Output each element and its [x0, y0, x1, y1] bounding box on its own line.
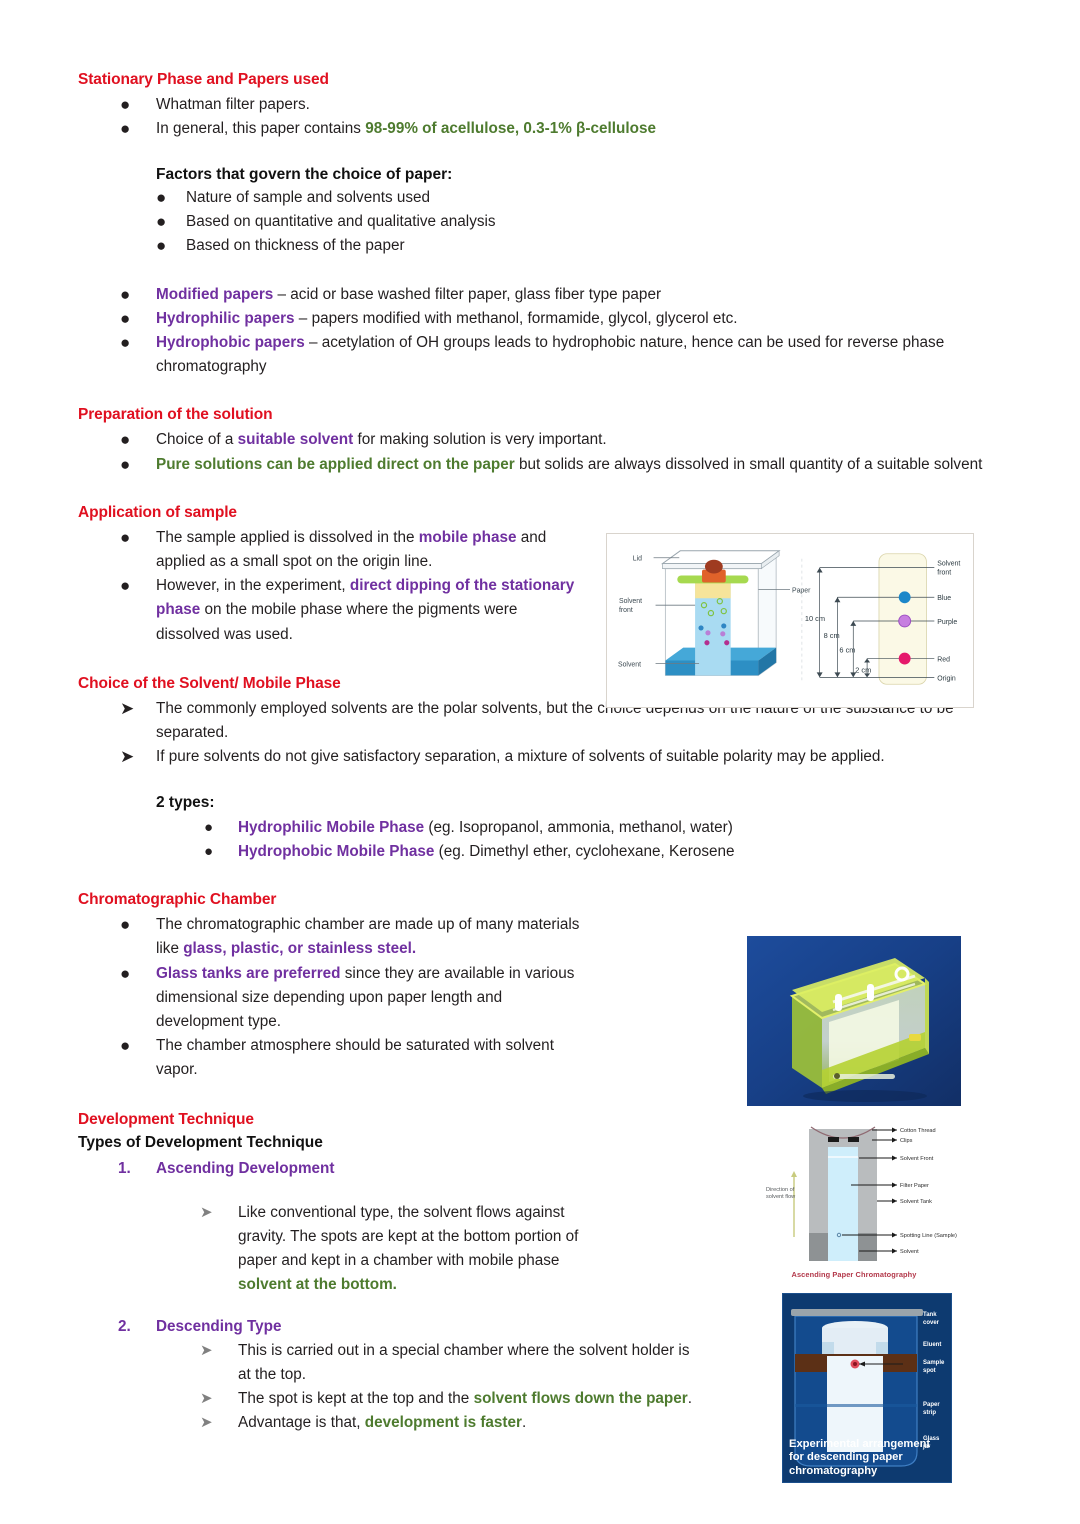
heading-application-of-sample: Application of sample [78, 503, 1008, 524]
bullet-text: Nature of sample and solvents used [186, 186, 1008, 210]
emphasis-solvent-at-bottom: solvent at the bottom. [238, 1276, 397, 1293]
ascending-body-pre: Like conventional type, the solvent flow… [238, 1204, 578, 1269]
label-red: Red [937, 657, 950, 664]
ascending-svg: Direction of solvent flow [747, 1117, 961, 1283]
figure-tank-and-rf-diagram: Lid Paper Solvent front Solvent [606, 533, 974, 708]
list-item: ● The chromatographic chamber are made u… [78, 913, 583, 961]
bullet-marker: ● [120, 1034, 172, 1057]
label-solvent-front-line2: front [619, 607, 633, 614]
bullet-text: Choice of a suitable solvent for making … [156, 428, 1008, 452]
list-item: ● Hydrophobic Mobile Phase (eg. Dimethyl… [156, 840, 1008, 864]
bullet-marker: ● [120, 428, 172, 451]
label-solvent-bottom: Solvent [900, 1249, 919, 1255]
bullet-text: However, in the experiment, direct dippi… [156, 574, 583, 647]
subheading-descending-type: Descending Type [156, 1318, 282, 1335]
bullet-marker: ● [204, 816, 213, 839]
bullet-marker-green: ● [120, 117, 172, 140]
bullet-marker: ● [120, 526, 172, 549]
list-item: ● Nature of sample and solvents used [156, 186, 1008, 210]
factors-heading: Factors that govern the choice of paper: [156, 164, 1008, 186]
term-hydrophilic-papers: Hydrophilic papers [156, 310, 295, 327]
bullet-marker: ● [120, 283, 172, 306]
bullet-text: Hydrophobic Mobile Phase (eg. Dimethyl e… [238, 840, 1008, 864]
app-item2-pre: However, in the experiment, [156, 577, 350, 594]
label-tank-cover-1: Tank [923, 1312, 937, 1318]
label-solvent: Solvent [618, 661, 641, 668]
label-direction-line1: Direction of [766, 1187, 795, 1193]
list-item: ● Based on quantitative and qualitative … [156, 210, 1008, 234]
label-6cm: 6 cm [839, 646, 855, 655]
label-10cm: 10 cm [805, 614, 825, 623]
bullet-marker: ● [156, 210, 166, 233]
prep-item1-post: for making solution is very important. [353, 431, 606, 448]
label-spotting-line: Spotting Line (Sample) [900, 1233, 957, 1239]
prep-item2-post: but solids are always dissolved in small… [515, 456, 983, 473]
term-hydrophobic-mobile-phase: Hydrophobic Mobile Phase [238, 843, 434, 860]
arrow-bullet-marker: ➤ [120, 745, 172, 768]
emphasis-pure-solutions: Pure solutions can be applied direct on … [156, 456, 515, 473]
figure-descending-chromatography: Tank cover Eluent Sample spot Paper stri… [782, 1293, 952, 1483]
bullet-marker: ● [156, 186, 166, 209]
bullet-text: This is carried out in a special chamber… [238, 1339, 698, 1387]
list-item: ● Whatman filter papers. [78, 93, 1008, 117]
glass-tank-svg [747, 936, 961, 1106]
label-tank-cover-2: cover [923, 1320, 940, 1326]
heading-preparation-of-solution: Preparation of the solution [78, 405, 1008, 426]
factors-block: Factors that govern the choice of paper:… [78, 164, 1008, 258]
two-types-block: 2 types: ● Hydrophilic Mobile Phase (eg.… [78, 792, 1008, 864]
emphasis-development-faster: development is faster [365, 1414, 522, 1431]
heading-stationary-phase: Stationary Phase and Papers used [78, 70, 1008, 91]
bullet-marker: ● [120, 331, 172, 354]
bullet-marker: ● [120, 913, 172, 936]
two-types-heading: 2 types: [156, 792, 1008, 814]
list-item: ➤ This is carried out in a special chamb… [78, 1339, 698, 1387]
label-purple: Purple [937, 619, 957, 626]
bullet-text: If pure solvents do not give satisfactor… [156, 745, 1008, 769]
term-hydrophilic-papers-rest: – papers modified with methanol, formami… [295, 310, 738, 327]
list-item: ● Glass tanks are preferred since they a… [78, 962, 583, 1035]
arrow-bullet-marker: ➤ [120, 697, 172, 720]
desc-point3-post: . [522, 1414, 526, 1431]
bullet-text: Advantage is that, development is faster… [238, 1411, 698, 1435]
list-item: ● In general, this paper contains 98-99%… [78, 117, 1008, 141]
bullet-text: The sample applied is dissolved in the m… [156, 526, 583, 574]
term-hydrophobic-mobile-phase-rest: (eg. Dimethyl ether, cyclohexane, Kerose… [434, 843, 734, 860]
application-bullets: ● The sample applied is dissolved in the… [78, 526, 583, 647]
term-hydrophilic-mobile-phase: Hydrophilic Mobile Phase [238, 819, 424, 836]
ascending-development-points: ➤ Like conventional type, the solvent fl… [78, 1201, 583, 1298]
descending-type-points: ➤ This is carried out in a special chamb… [78, 1339, 698, 1436]
emphasis-solvent-flows-down: solvent flows down the paper [474, 1390, 688, 1407]
ordered-marker-2: 2. [118, 1315, 131, 1339]
bullet-text: In general, this paper contains 98-99% o… [156, 117, 1008, 141]
bullet-marker: ● [204, 840, 213, 863]
bullet-text: Hydrophobic papers – acetylation of OH g… [156, 331, 1008, 379]
emphasis-mobile-phase: mobile phase [419, 529, 517, 546]
bullet-marker: ● [120, 574, 172, 597]
list-item: ● Based on thickness of the paper [156, 234, 1008, 258]
label-lid: Lid [633, 556, 642, 563]
caption-ascending-paper-chromatography: Ascending Paper Chromatography [747, 1270, 961, 1279]
arrow-bullet-marker: ➤ [200, 1201, 252, 1224]
list-item: ➤ Advantage is that, development is fast… [78, 1411, 698, 1435]
label-paper-strip-2: strip [923, 1410, 936, 1416]
term-hydrophobic-papers: Hydrophobic papers [156, 334, 305, 351]
desc-point2-pre: The spot is kept at the top and the [238, 1390, 474, 1407]
label-solvent-tank: Solvent Tank [900, 1199, 932, 1205]
bullet-text: The chromatographic chamber are made up … [156, 913, 583, 961]
highlight-cellulose-composition: 98-99% of acellulose, 0.3-1% β-cellulose [365, 120, 656, 137]
list-item: ● Hydrophilic Mobile Phase (eg. Isopropa… [156, 816, 1008, 840]
label-origin: Origin [937, 675, 956, 682]
label-paper-strip-1: Paper [923, 1402, 940, 1408]
heading-chromatographic-chamber: Chromatographic Chamber [78, 890, 1008, 911]
label-solvent-front-right2: front [937, 570, 951, 577]
list-item: ● Modified papers – acid or base washed … [78, 283, 1008, 307]
emphasis-chamber-materials: glass, plastic, or stainless steel. [183, 940, 416, 957]
preparation-bullets: ● Choice of a suitable solvent for makin… [78, 428, 1008, 476]
label-eluent: Eluent [923, 1342, 941, 1348]
caption-descending-paper-chromatography: Experimental arrangement for descending … [789, 1438, 947, 1479]
label-solvent-front-line1: Solvent [619, 598, 642, 605]
label-direction-line2: solvent flow [766, 1194, 796, 1200]
spot-red [899, 653, 911, 665]
label-cotton-thread: Cotton Thread [900, 1128, 936, 1134]
subheading-ascending-development: Ascending Development [156, 1160, 335, 1177]
bullet-marker: ● [120, 307, 172, 330]
term-modified-papers-rest: – acid or base washed filter paper, glas… [273, 286, 661, 303]
label-blue: Blue [937, 595, 951, 602]
desc-point3-pre: Advantage is that, [238, 1414, 365, 1431]
label-sample-spot-1: Sample [923, 1360, 945, 1366]
bullet-text: Based on quantitative and qualitative an… [186, 210, 1008, 234]
factors-list: ● Nature of sample and solvents used ● B… [156, 186, 1008, 259]
bullet-text: Modified papers – acid or base washed fi… [156, 283, 1008, 307]
app-item2-post: on the mobile phase where the pigments w… [156, 601, 517, 642]
desc-point2-post: . [688, 1390, 692, 1407]
term-hydrophilic-mobile-phase-rest: (eg. Isopropanol, ammonia, methanol, wat… [424, 819, 733, 836]
list-item: ● However, in the experiment, direct dip… [78, 574, 583, 647]
paper-types-list: ● Modified papers – acid or base washed … [78, 283, 1008, 380]
list-item: ● Pure solutions can be applied direct o… [78, 453, 1008, 477]
spot-purple [899, 615, 911, 627]
label-2cm: 2 cm [855, 665, 871, 674]
tank-rf-svg: Lid Paper Solvent front Solvent [607, 534, 973, 707]
figure-ascending-chromatography: Direction of solvent flow [747, 1117, 961, 1283]
bullet-marker: ● [120, 453, 172, 476]
list-item: ● Choice of a suitable solvent for makin… [78, 428, 1008, 452]
list-item: ● Hydrophilic papers – papers modified w… [78, 307, 1008, 331]
arrow-bullet-marker: ➤ [200, 1411, 252, 1434]
list-item: ➤ If pure solvents do not give satisfact… [78, 745, 1008, 769]
arrow-bullet-marker: ➤ [200, 1387, 252, 1410]
list-item: ➤ The spot is kept at the top and the so… [78, 1387, 698, 1411]
label-solvent-front: Solvent Front [900, 1156, 934, 1162]
stationary-phase-bullets: ● Whatman filter papers. ● In general, t… [78, 93, 1008, 141]
list-item: ➤ Like conventional type, the solvent fl… [78, 1201, 583, 1298]
bullet-text: The chamber atmosphere should be saturat… [156, 1034, 583, 1082]
bullet-text: Whatman filter papers. [156, 93, 1008, 117]
bullet-text: Pure solutions can be applied direct on … [156, 453, 1008, 477]
bullet-text: Hydrophilic papers – papers modified wit… [156, 307, 1008, 331]
bullet-text: The spot is kept at the top and the solv… [238, 1387, 698, 1411]
list-item: ● Hydrophobic papers – acetylation of OH… [78, 331, 1008, 379]
chamber-bullets: ● The chromatographic chamber are made u… [78, 913, 583, 1082]
term-modified-papers: Modified papers [156, 286, 273, 303]
emphasis-glass-tanks: Glass tanks are preferred [156, 965, 341, 982]
app-item1-pre: The sample applied is dissolved in the [156, 529, 419, 546]
bullet-marker: ● [120, 93, 172, 116]
label-sample-spot-2: spot [923, 1368, 936, 1374]
bullet-text-plain: In general, this paper contains [156, 120, 365, 137]
bullet-marker: ● [156, 234, 166, 257]
emphasis-suitable-solvent: suitable solvent [238, 431, 354, 448]
bullet-marker: ● [120, 962, 172, 985]
figure-glass-tank-photo [747, 936, 961, 1106]
ordered-marker-1: 1. [118, 1157, 131, 1181]
bullet-text: Hydrophilic Mobile Phase (eg. Isopropano… [238, 816, 1008, 840]
list-item: ● The sample applied is dissolved in the… [78, 526, 583, 574]
bullet-text: Glass tanks are preferred since they are… [156, 962, 583, 1035]
spot-blue [899, 591, 911, 603]
list-item: ● The chamber atmosphere should be satur… [78, 1034, 583, 1082]
label-clips: Clips [900, 1138, 913, 1144]
document-page: Stationary Phase and Papers used ● Whatm… [0, 0, 1080, 1524]
bullet-text: Like conventional type, the solvent flow… [238, 1201, 583, 1298]
bullet-text: Based on thickness of the paper [186, 234, 1008, 258]
arrow-bullet-marker: ➤ [200, 1339, 252, 1362]
label-filter-paper: Filter Paper [900, 1183, 929, 1189]
mobile-phase-types-list: ● Hydrophilic Mobile Phase (eg. Isopropa… [156, 816, 1008, 864]
label-8cm: 8 cm [824, 631, 840, 640]
label-solvent-front-right: Solvent [937, 561, 960, 568]
